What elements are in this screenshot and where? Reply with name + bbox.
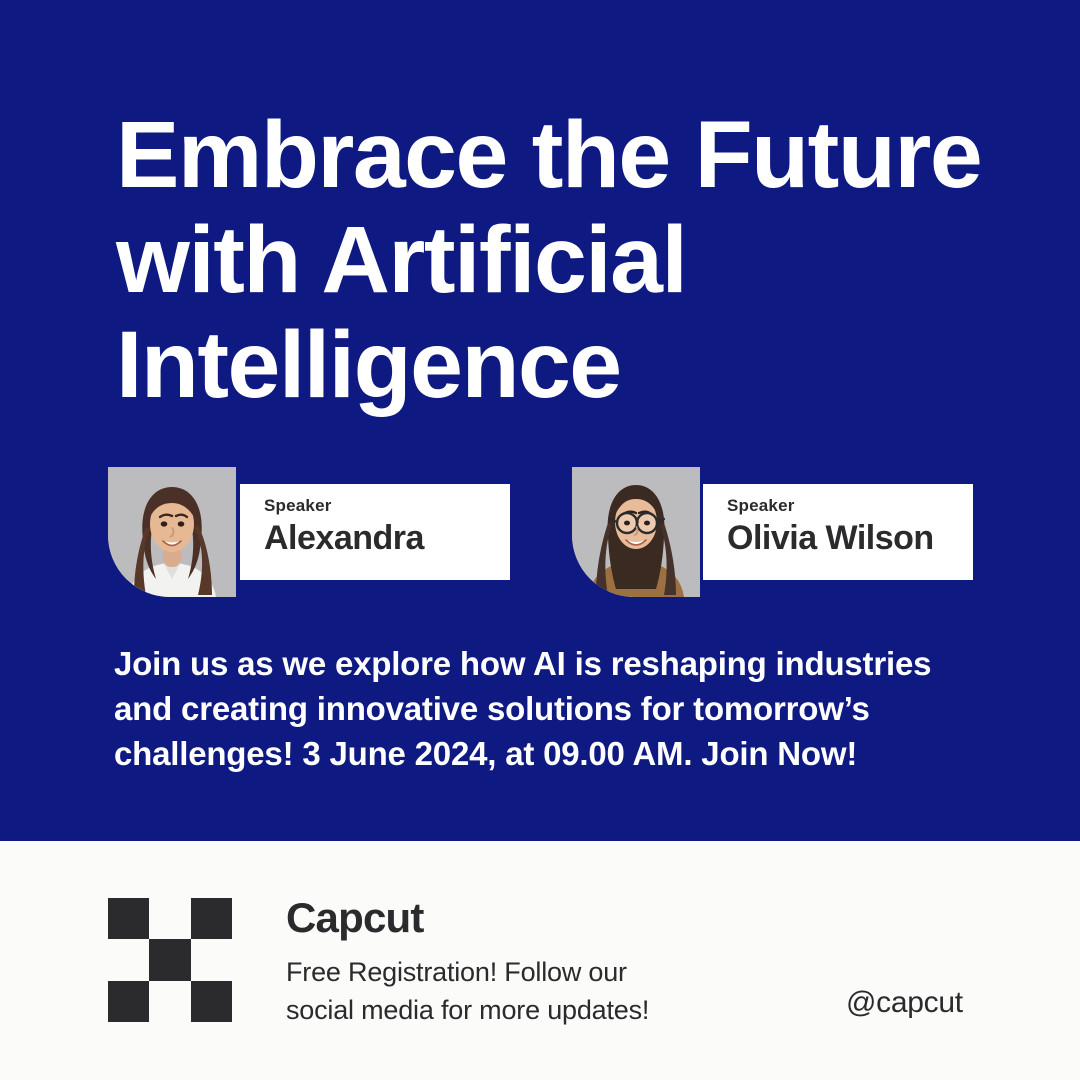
- event-description: Join us as we explore how AI is reshapin…: [114, 641, 994, 776]
- logo-cell: [149, 898, 190, 939]
- brand-name: Capcut: [286, 893, 424, 943]
- speaker-name: Alexandra: [264, 516, 510, 560]
- avatar: [108, 467, 236, 597]
- speaker-role-label: Speaker: [727, 496, 973, 516]
- logo-cell: [149, 981, 190, 1022]
- speaker-card-olivia-wilson: Speaker Olivia Wilson: [572, 467, 973, 597]
- logo-cell: [149, 939, 190, 980]
- logo-cell: [191, 898, 232, 939]
- speaker-role-label: Speaker: [264, 496, 510, 516]
- logo-cell: [191, 939, 232, 980]
- avatar: [572, 467, 700, 597]
- speaker-name-plate: Speaker Olivia Wilson: [703, 484, 973, 580]
- speaker-name-plate: Speaker Alexandra: [240, 484, 510, 580]
- event-poster: Embrace the Future with Artificial Intel…: [0, 0, 1080, 1080]
- speaker-name: Olivia Wilson: [727, 516, 973, 560]
- checkerboard-logo-icon: [108, 898, 232, 1022]
- social-handle: @capcut: [846, 985, 963, 1021]
- hero-section: Embrace the Future with Artificial Intel…: [0, 0, 1080, 841]
- page-title: Embrace the Future with Artificial Intel…: [116, 103, 1016, 418]
- speaker-card-alexandra: Speaker Alexandra: [108, 467, 510, 597]
- logo-cell: [191, 981, 232, 1022]
- logo-cell: [108, 898, 149, 939]
- brand-tagline: Free Registration! Follow our social med…: [286, 953, 746, 1029]
- logo-cell: [108, 939, 149, 980]
- logo-cell: [108, 981, 149, 1022]
